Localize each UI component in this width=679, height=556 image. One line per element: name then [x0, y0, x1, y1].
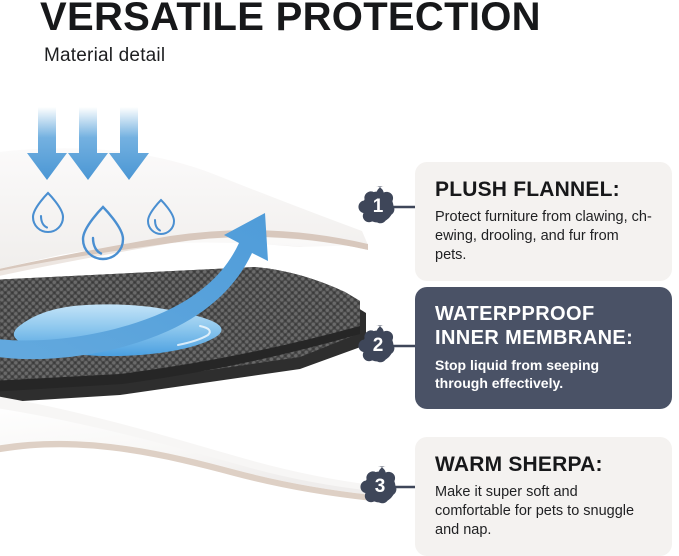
water-down-arrows-group: [27, 107, 149, 180]
step-badge-1[interactable]: 1: [355, 184, 401, 230]
callout-card-waterproof-membrane[interactable]: WATERPPROOF INNER MEMBRANE: Stop liquid …: [415, 287, 672, 409]
step-badge-1-label: 1: [355, 184, 401, 230]
callout-card-title: WATERPPROOF INNER MEMBRANE:: [435, 303, 654, 350]
warm-sherpa-layer: [0, 395, 372, 501]
step-badge-3[interactable]: 3: [357, 464, 403, 510]
callout-card-title: WARM SHERPA:: [435, 453, 654, 477]
callout-card-body: Make it super soft and comfortable for p…: [435, 483, 654, 540]
step-badge-2[interactable]: 2: [355, 323, 401, 369]
infographic-canvas: VERSATILE PROTECTION Material detail: [0, 0, 679, 555]
callout-card-body: Stop liquid from seeping through effecti…: [435, 356, 654, 392]
step-badge-2-label: 2: [355, 323, 401, 369]
callout-card-body: Protect furniture from clawing, ch-ewing…: [435, 208, 654, 265]
step-badge-3-label: 3: [357, 464, 403, 510]
page-subtitle: Material detail: [44, 45, 165, 67]
callout-card-plush-flannel[interactable]: PLUSH FLANNEL: Protect furniture from cl…: [415, 162, 672, 281]
page-title: VERSATILE PROTECTION: [40, 0, 541, 39]
callout-card-title: PLUSH FLANNEL:: [435, 178, 654, 202]
callout-card-warm-sherpa[interactable]: WARM SHERPA: Make it super soft and comf…: [415, 437, 672, 556]
